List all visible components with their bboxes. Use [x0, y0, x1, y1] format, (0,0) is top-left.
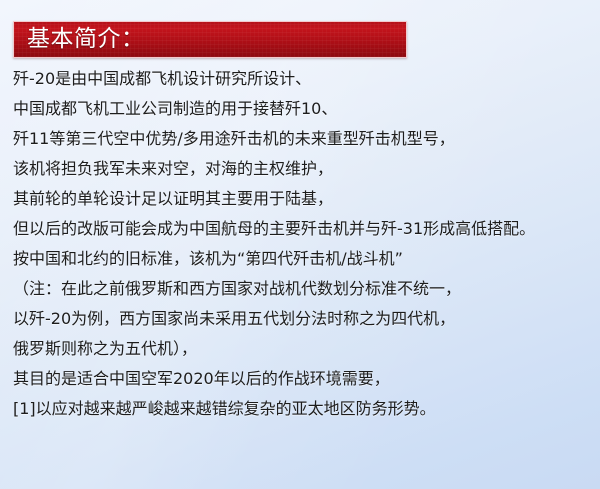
slide-body-text: 歼-20是由中国成都飞机设计研究所设计、 中国成都飞机工业公司制造的用于接替歼1… — [13, 64, 593, 424]
body-line: 歼-20是由中国成都飞机设计研究所设计、 — [13, 64, 593, 94]
section-title-text: 基本简介： — [27, 28, 145, 51]
body-line: [1]以应对越来越严峻越来越错综复杂的亚太地区防务形势。 — [13, 394, 593, 424]
presentation-slide: 基本简介： 歼-20是由中国成都飞机设计研究所设计、 中国成都飞机工业公司制造的… — [0, 0, 600, 489]
body-line: 但以后的改版可能会成为中国航母的主要歼击机并与歼-31形成高低搭配。 — [13, 214, 593, 244]
body-line: 中国成都飞机工业公司制造的用于接替歼10、 — [13, 94, 593, 124]
section-title-bar: 基本简介： — [13, 21, 407, 58]
body-line: 该机将担负我军未来对空，对海的主权维护， — [13, 154, 593, 184]
body-line: （注：在此之前俄罗斯和西方国家对战机代数划分标准不统一， — [13, 274, 593, 304]
body-line: 按中国和北约的旧标准，该机为“第四代歼击机/战斗机” — [13, 244, 593, 274]
body-line: 俄罗斯则称之为五代机）， — [13, 334, 593, 364]
body-line: 歼11等第三代空中优势/多用途歼击机的未来重型歼击机型号， — [13, 124, 593, 154]
body-line: 其前轮的单轮设计足以证明其主要用于陆基， — [13, 184, 593, 214]
body-line: 其目的是适合中国空军2020年以后的作战环境需要， — [13, 364, 593, 394]
body-line: 以歼-20为例，西方国家尚未采用五代划分法时称之为四代机， — [13, 304, 593, 334]
